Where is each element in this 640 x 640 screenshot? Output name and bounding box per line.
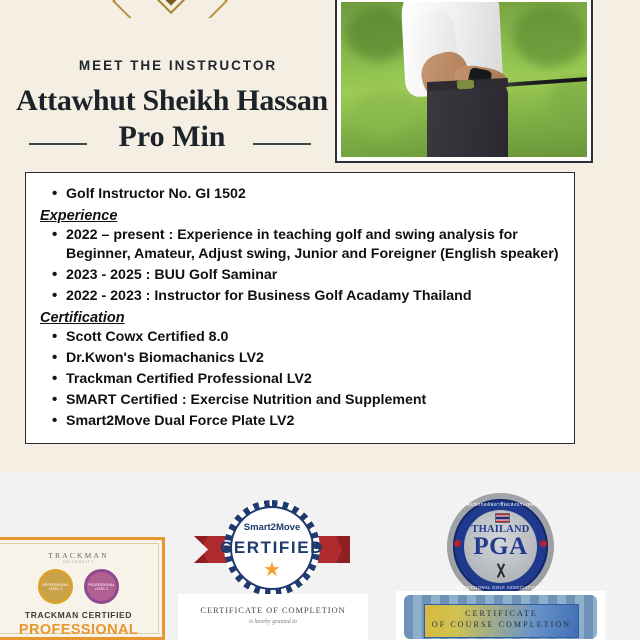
pants <box>427 83 508 157</box>
list-item: Scott Cowx Certified 8.0 <box>40 328 560 348</box>
brand-diamond-logo: PGE <box>112 0 230 18</box>
list-item: SMART Certified : Exercise Nutrition and… <box>40 391 560 411</box>
list-item: 2022 – present : Experience in teaching … <box>40 226 560 265</box>
smart2move-certified-label: CERTIFIED <box>216 538 328 558</box>
list-item: Dr.Kwon's Biomachanics LV2 <box>40 349 560 369</box>
trackman-seals: PROFESSIONAL LEVEL 1 PROFESSIONAL LEVEL … <box>0 569 158 604</box>
certificate-subtitle: is hereby granted to <box>178 619 368 625</box>
certificate-of-completion: CERTIFICATE OF COMPLETION is hereby gran… <box>178 594 368 640</box>
thai-flag-icon <box>495 513 510 523</box>
trackman-seal-level1: PROFESSIONAL LEVEL 1 <box>38 569 73 604</box>
star-icon: ★ <box>216 560 328 580</box>
trackman-level-label: PROFESSIONAL LEVEL 2 <box>0 622 158 640</box>
experience-list: 2022 – present : Experience in teaching … <box>40 226 560 307</box>
trackman-brand-sub: UNIVERSITY <box>0 560 158 564</box>
instructor-photo <box>341 2 587 157</box>
smart2move-badge: Smart2Move CERTIFIED ★ <box>216 496 328 608</box>
intro-list: Golf Instructor No. GI 1502 <box>40 185 560 205</box>
trackman-certificate-inner: TRACKMAN UNIVERSITY PROFESSIONAL LEVEL 1… <box>0 543 159 634</box>
trackman-certificate: TRACKMAN UNIVERSITY PROFESSIONAL LEVEL 1… <box>0 537 165 640</box>
instructor-name-line2: Pro Min <box>0 120 344 154</box>
divider-right <box>253 143 311 145</box>
trackman-certified-label: TRACKMAN CERTIFIED <box>0 610 158 620</box>
instructor-name-line1: Attawhut Sheikh Hassan <box>0 84 344 118</box>
pga-thai-text: สมาคมนักกอล์ฟอาชีพแห่งประเทศไทย <box>447 502 554 509</box>
certificate-title: CERTIFICATE OF COMPLETION <box>178 605 368 615</box>
kicker-text: MEET THE INSTRUCTOR <box>0 58 356 73</box>
trackman-seal-level2: PROFESSIONAL LEVEL 2 <box>84 569 119 604</box>
trackman-brand: TRACKMAN <box>0 551 158 560</box>
certificate-of-course-completion: CERTIFICATE OF COURSE COMPLETION <box>396 591 605 640</box>
belt-buckle <box>456 79 474 89</box>
list-item: Golf Instructor No. GI 1502 <box>40 185 560 205</box>
divider-left <box>29 143 87 145</box>
list-item: 2022 - 2023 : Instructor for Business Go… <box>40 287 560 307</box>
certification-list: Scott Cowx Certified 8.0 Dr.Kwon's Bioma… <box>40 328 560 432</box>
thailand-pga-seal: สมาคมนักกอล์ฟอาชีพแห่งประเทศไทย PROFESSI… <box>447 493 554 600</box>
pga-acronym: PGA <box>447 534 554 560</box>
certificate-banner: CERTIFICATE OF COURSE COMPLETION <box>424 604 579 638</box>
certificate-line2: OF COURSE COMPLETION <box>425 620 578 629</box>
crossed-golf-clubs-icon <box>486 563 516 577</box>
list-item: 2023 - 2025 : BUU Golf Saminar <box>40 266 560 286</box>
credentials-box: Golf Instructor No. GI 1502 Experience 2… <box>25 172 575 444</box>
certificate-line1: CERTIFICATE <box>425 609 578 618</box>
smart2move-brand: Smart2Move <box>216 522 328 533</box>
list-item: Smart2Move Dual Force Plate LV2 <box>40 412 560 432</box>
instructor-profile-poster: PGE MEET THE INSTRUCTOR Attawhut Sheikh … <box>0 0 640 640</box>
experience-heading: Experience <box>40 208 560 224</box>
list-item: Trackman Certified Professional LV2 <box>40 370 560 390</box>
certification-heading: Certification <box>40 310 560 326</box>
instructor-photo-frame <box>335 0 593 163</box>
